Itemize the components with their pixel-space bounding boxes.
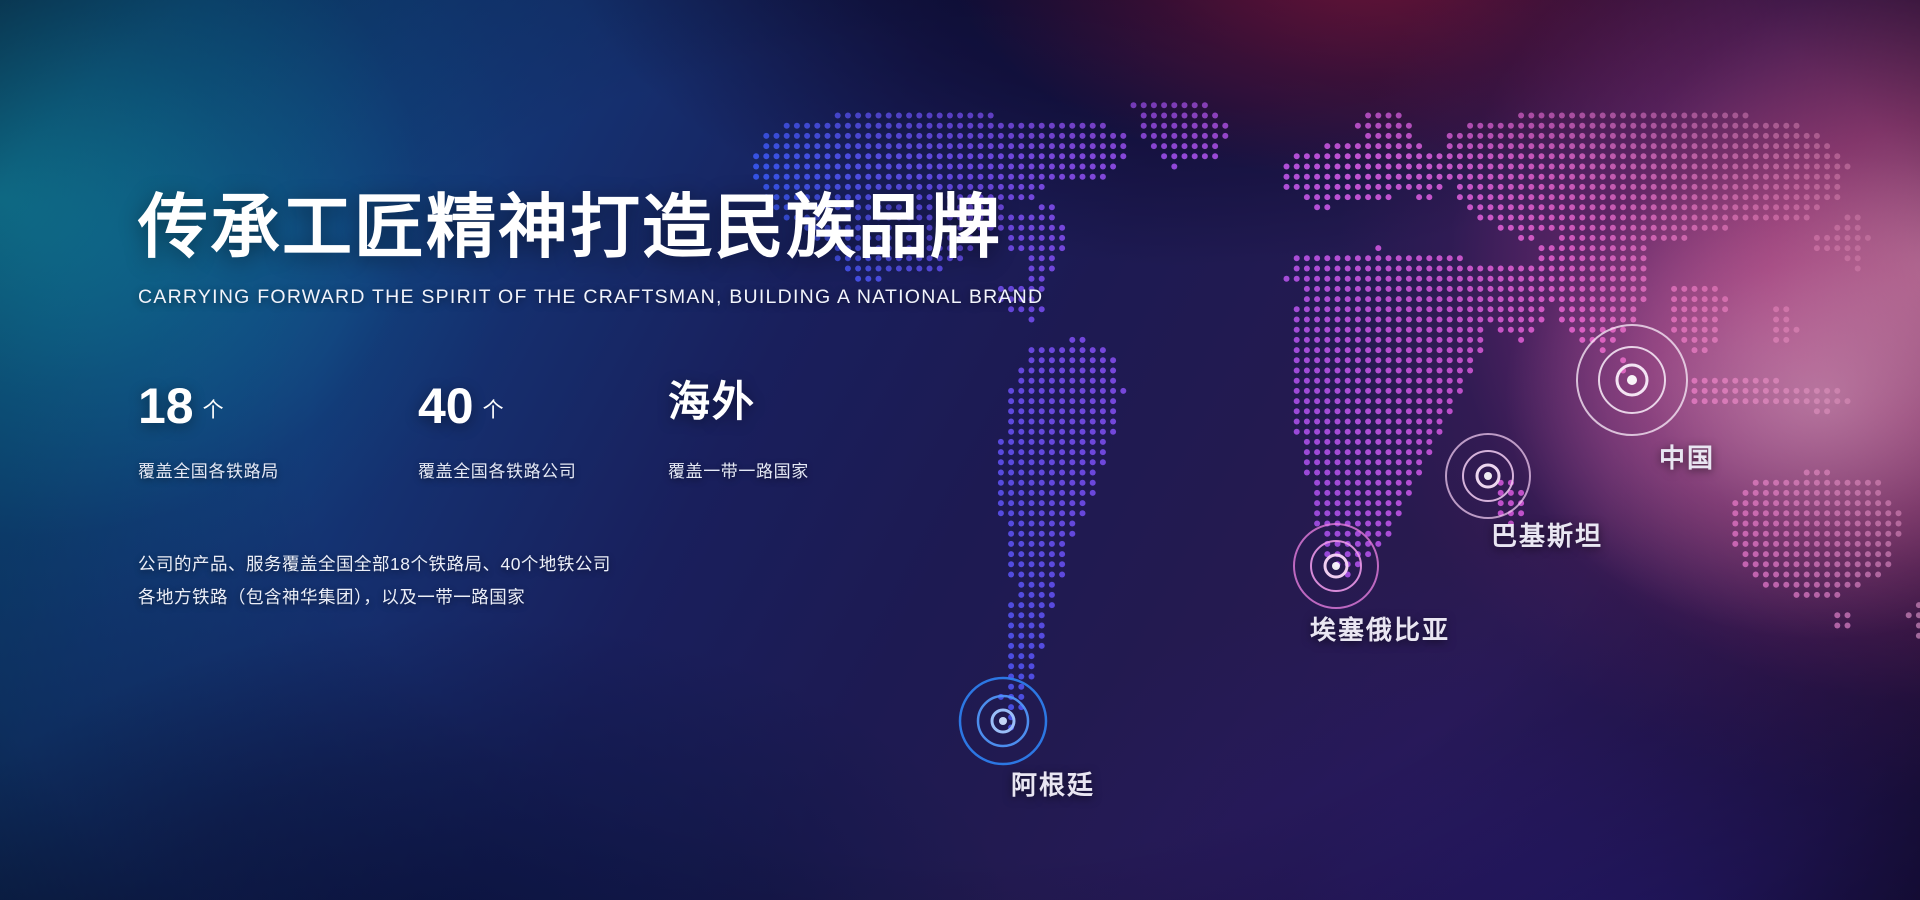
description-paragraph: 公司的产品、服务覆盖全国全部18个铁路局、40个地铁公司 各地方铁路（包含神华集…: [138, 548, 958, 613]
stat-caption: 覆盖一带一路国家: [668, 457, 918, 482]
map-marker-label-ethiopia: 埃塞俄比亚: [1310, 610, 1450, 647]
stat-value: 18: [138, 381, 194, 431]
map-marker-ethiopia[interactable]: 埃塞俄比亚: [1290, 520, 1382, 612]
page-subtitle: CARRYING FORWARD THE SPIRIT OF THE CRAFT…: [138, 286, 958, 309]
map-marker-argentina[interactable]: 阿根廷: [955, 673, 1051, 769]
stat-item-metro-companies: 40 个 覆盖全国各铁路公司: [418, 381, 668, 482]
stat-value: 海外: [668, 381, 756, 423]
description-line-1: 公司的产品、服务覆盖全国全部18个铁路局、40个地铁公司: [138, 548, 958, 580]
stat-caption: 覆盖全国各铁路公司: [418, 457, 668, 482]
stat-value-group: 18 个: [138, 381, 418, 439]
map-marker-china[interactable]: 中国: [1572, 320, 1692, 440]
stat-unit: 个: [483, 394, 504, 424]
map-marker-label-china: 中国: [1659, 438, 1715, 475]
hero-content: 传承工匠精神打造民族品牌 CARRYING FORWARD THE SPIRIT…: [138, 190, 958, 613]
stat-value: 40: [418, 381, 474, 431]
stat-unit: 个: [203, 394, 224, 424]
map-marker-label-pakistan: 巴基斯坦: [1491, 516, 1603, 553]
hero-banner: 中国 巴基斯坦 埃塞俄比亚 阿根廷 传承工匠精神打造民族品牌 CAR: [0, 0, 1920, 900]
concentric-rings-icon: [1290, 520, 1382, 612]
concentric-rings-icon: [1442, 430, 1534, 522]
concentric-rings-icon: [955, 673, 1051, 769]
map-marker-label-argentina: 阿根廷: [1011, 765, 1095, 802]
page-title: 传承工匠精神打造民族品牌: [138, 190, 958, 264]
description-line-2: 各地方铁路（包含神华集团），以及一带一路国家: [138, 581, 958, 613]
stat-item-railway-bureaus: 18 个 覆盖全国各铁路局: [138, 381, 418, 482]
stat-caption: 覆盖全国各铁路局: [138, 457, 418, 482]
stat-item-overseas: 海外 覆盖一带一路国家: [668, 381, 918, 482]
stats-row: 18 个 覆盖全国各铁路局 40 个 覆盖全国各铁路公司 海外 覆盖一带一路国家: [138, 381, 958, 482]
map-marker-pakistan[interactable]: 巴基斯坦: [1442, 430, 1534, 522]
concentric-rings-icon: [1572, 320, 1692, 440]
stat-value-group: 40 个: [418, 381, 668, 439]
stat-value-group: 海外: [668, 381, 918, 439]
